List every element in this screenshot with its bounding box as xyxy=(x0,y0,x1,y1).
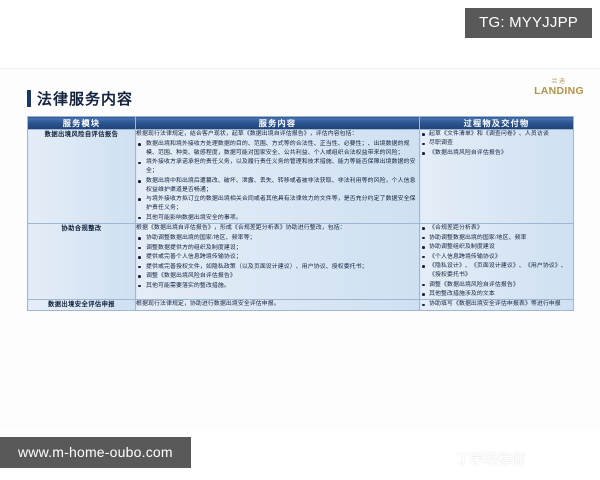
table-row: 数据出境风险自评估报告 根据现行法律规定，结合客户现状，起草《数据出境自评估报告… xyxy=(28,130,574,224)
tg-tag-overlay: TG: MYYJJPP xyxy=(465,8,592,38)
list-item: 与境外接收方拟订立的数据出境相关合同或者其他具有法律效力的文件等，是否充分约定了… xyxy=(136,195,419,213)
column-header-service-content: 服务内容 xyxy=(136,117,420,130)
content-lead-text: 根据现行法律规定，结合客户现状，起草《数据出境自评估报告》，评估内容包括： xyxy=(136,130,419,139)
list-item: 其他可能需要落实的整改措施。 xyxy=(136,282,419,291)
deliverables-bullet-list: 协助填写《数据出境安全评估申报表》等进行申报 xyxy=(420,300,573,309)
list-item: 《数据出境风险自评估报告》 xyxy=(420,149,573,158)
cell-service-content: 根据现行法律规定，结合客户现状，起草《数据出境自评估报告》，评估内容包括： 数据… xyxy=(136,130,420,224)
list-item: 《隐私设计》、《页面设计建议》、《用户协议》、《授权委托书》 xyxy=(420,262,573,280)
list-item: 协助调整组织及制度建设 xyxy=(420,243,573,252)
list-item: 提供或完善个人信息跨境传输协议； xyxy=(136,253,419,262)
table-row: 数据出境安全评估申报 根据现行法律规定，协助进行数据出境安全评估申报。 协助填写… xyxy=(28,300,574,311)
cell-deliverables: 《合规差距分析表》 协助调整数据出境的国家/地区、频率 协助调整组织及制度建设 … xyxy=(420,224,574,300)
list-item: 起草《文件清单》和《调查问卷》、人员访谈 xyxy=(420,130,573,139)
list-item: 协助调整数据出境的国家/地区、频率等； xyxy=(136,234,419,243)
title-accent-bar xyxy=(27,90,31,107)
author-watermark: 丁 丁学明律师 xyxy=(436,441,586,475)
cell-module: 数据出境风险自评估报告 xyxy=(28,130,136,224)
slide-title-block: 法律服务内容 xyxy=(27,88,133,109)
logo-english-text: LANDING xyxy=(534,86,584,97)
deliverables-bullet-list: 起草《文件清单》和《调查问卷》、人员访谈 尽职调查 《数据出境风险自评估报告》 xyxy=(420,130,573,158)
list-item: 尽职调查 xyxy=(420,139,573,148)
list-item: 境外接收方承诺承担的责任义务，以及履行责任义务的管理和技术措施、能力等能否保障出… xyxy=(136,158,419,176)
list-item: 《个人信息跨境传输协议》 xyxy=(420,253,573,262)
list-item: 调整数据提供方的组织及制度建设； xyxy=(136,244,419,253)
column-header-deliverables: 过程物及交付物 xyxy=(420,117,574,130)
column-header-service-module: 服务模块 xyxy=(28,117,136,130)
list-item: 其他可能影响数据出境安全的事项。 xyxy=(136,214,419,223)
cell-module: 数据出境安全评估申报 xyxy=(28,300,136,311)
list-item: 其他整改措施涉及的文本 xyxy=(420,290,573,299)
list-item: 调整《数据出境风险自评估报告》 xyxy=(420,281,573,290)
cell-module: 协助合规整改 xyxy=(28,224,136,300)
watermark-text: 丁学明律师 xyxy=(456,448,526,468)
content-lead-text: 根据《数据出境自评估报告》，形成《合规差距分析表》协助进行整改，包括： xyxy=(136,224,419,233)
content-bullet-list: 协助调整数据出境的国家/地区、频率等； 调整数据提供方的组织及制度建设； 提供或… xyxy=(136,234,419,290)
list-item: 调整《数据出境风险自评估报告》 xyxy=(136,272,419,281)
table-row: 协助合规整改 根据《数据出境自评估报告》，形成《合规差距分析表》协助进行整改，包… xyxy=(28,224,574,300)
content-lead-text: 根据现行法律规定，协助进行数据出境安全评估申报。 xyxy=(136,300,419,309)
cell-deliverables: 协助填写《数据出境安全评估申报表》等进行申报 xyxy=(420,300,574,311)
landing-logo: 兰迪 LANDING xyxy=(534,79,584,97)
list-item: 《合规差距分析表》 xyxy=(420,224,573,233)
watermark-avatar-icon: 丁 xyxy=(436,450,453,467)
table-body: 数据出境风险自评估报告 根据现行法律规定，结合客户现状，起草《数据出境自评估报告… xyxy=(28,130,574,311)
list-item: 协助填写《数据出境安全评估申报表》等进行申报 xyxy=(420,300,573,309)
list-item: 提供或完善授权文件，如隐私政策（以及页面设计建议）、用户协议、授权委托书； xyxy=(136,263,419,272)
slide-canvas: 兰迪 LANDING 法律服务内容 服务模块 服务内容 过程物及交付物 数据出境… xyxy=(0,68,600,430)
legal-services-table: 服务模块 服务内容 过程物及交付物 数据出境风险自评估报告 根据现行法律规定，结… xyxy=(27,116,574,311)
table-header: 服务模块 服务内容 过程物及交付物 xyxy=(28,117,574,130)
list-item: 数据出境中和出境后遭篡改、破坏、泄露、丢失、转移或者被非法获取、非法利用等的风险… xyxy=(136,177,419,195)
list-item: 数据出境和境外接收方处理数据的目的、范围、方式等的合法性、正当性、必要性；、出境… xyxy=(136,140,419,158)
cell-deliverables: 起草《文件清单》和《调查问卷》、人员访谈 尽职调查 《数据出境风险自评估报告》 xyxy=(420,130,574,224)
cell-service-content: 根据《数据出境自评估报告》，形成《合规差距分析表》协助进行整改，包括： 协助调整… xyxy=(136,224,420,300)
cell-service-content: 根据现行法律规定，协助进行数据出境安全评估申报。 xyxy=(136,300,420,311)
list-item: 协助调整数据出境的国家/地区、频率 xyxy=(420,234,573,243)
deliverables-bullet-list: 《合规差距分析表》 协助调整数据出境的国家/地区、频率 协助调整组织及制度建设 … xyxy=(420,224,573,299)
table-header-row: 服务模块 服务内容 过程物及交付物 xyxy=(28,117,574,130)
url-bar-overlay: www.m-home-oubo.com xyxy=(0,437,191,468)
page-title: 法律服务内容 xyxy=(37,88,133,109)
content-bullet-list: 数据出境和境外接收方处理数据的目的、范围、方式等的合法性、正当性、必要性；、出境… xyxy=(136,140,419,223)
